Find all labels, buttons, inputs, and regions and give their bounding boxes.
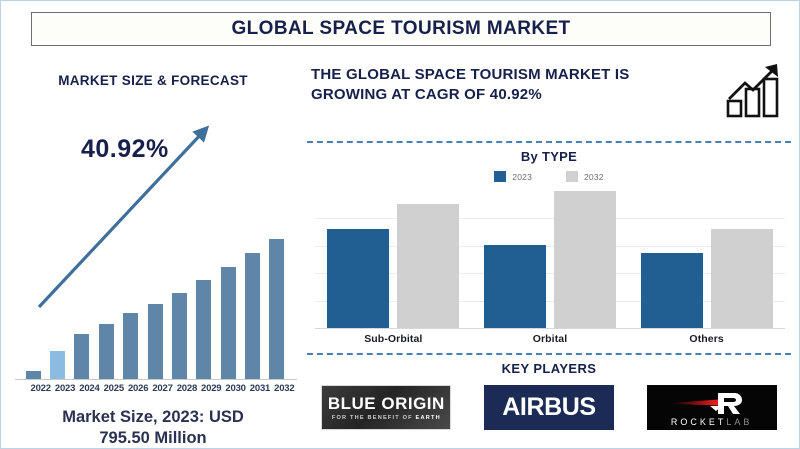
by-type-bar-others-2023 — [641, 253, 703, 328]
legend-item-2023[interactable]: 2023 — [494, 171, 532, 182]
market-size-caption: Market Size, 2023: USD 795.50 Million — [9, 407, 297, 448]
logo-blue-origin-tagline-emphasis: EARTH — [416, 415, 441, 421]
logo-rocket-lab-name: ROCKETLAB — [671, 417, 753, 427]
forecast-bar-chart — [21, 199, 289, 379]
page-title: GLOBAL SPACE TOURISM MARKET — [231, 18, 570, 40]
forecast-bar-rect — [269, 239, 284, 379]
separator-bottom — [307, 353, 791, 355]
forecast-bar-rect — [196, 280, 211, 379]
growth-statement-line2: GROWING AT CAGR OF 40.92% — [311, 86, 542, 103]
logo-airbus: AIRBUS — [484, 385, 614, 430]
by-type-bar-sub-orbital-2023 — [327, 229, 389, 328]
forecast-bar-rect — [74, 334, 89, 379]
logo-blue-origin-tagline-prefix: FOR THE BENEFIT OF — [332, 415, 416, 421]
growth-statement-line1: THE GLOBAL SPACE TOURISM MARKET IS — [311, 66, 629, 83]
forecast-year-labels: 2022202320242025202620272028202920302031… — [21, 383, 289, 399]
cagr-annotation: 40.92% — [81, 135, 169, 164]
by-type-bar-orbital-2032 — [554, 191, 616, 328]
logo-rocket-lab-name-secondary: LAB — [726, 417, 752, 427]
market-size-caption-line1: Market Size, 2023: USD — [62, 408, 244, 426]
by-type-group-sub-orbital — [327, 191, 459, 328]
by-type-bar-sub-orbital-2032 — [397, 204, 459, 328]
by-type-baseline — [315, 328, 785, 329]
by-type-title: By TYPE — [305, 149, 793, 164]
forecast-year-label: 2032 — [270, 383, 298, 394]
by-type-bar-others-2032 — [711, 229, 773, 328]
rocket-lab-mark-icon — [666, 391, 758, 416]
forecast-bar-rect — [221, 267, 236, 379]
forecast-bar-rect — [148, 304, 163, 379]
forecast-axis-line — [15, 379, 297, 380]
by-type-bar-orbital-2023 — [484, 245, 546, 328]
infographic-page: GLOBAL SPACE TOURISM MARKET MARKET SIZE … — [0, 0, 800, 449]
by-type-category-label: Sub-Orbital — [327, 333, 459, 345]
logo-blue-origin-tagline: FOR THE BENEFIT OF EARTH — [332, 415, 441, 421]
logo-airbus-name: AIRBUS — [502, 395, 595, 420]
page-title-box: GLOBAL SPACE TOURISM MARKET — [31, 12, 771, 46]
logo-blue-origin-name: BLUE ORIGIN — [328, 395, 445, 412]
logo-rocket-lab-name-primary: ROCKET — [671, 417, 727, 427]
separator-top — [307, 141, 791, 143]
by-type-legend: 20232032 — [305, 171, 793, 182]
market-size-forecast-panel: MARKET SIZE & FORECAST 40.92% 2022202320… — [9, 59, 297, 439]
by-type-category-label: Orbital — [484, 333, 616, 345]
by-type-group-orbital — [484, 191, 616, 328]
by-type-category-label: Others — [641, 333, 773, 345]
logo-rocket-lab: ROCKETLAB — [647, 385, 777, 430]
growth-chart-arrow-icon — [725, 61, 787, 119]
right-panel: THE GLOBAL SPACE TOURISM MARKET IS GROWI… — [305, 59, 793, 441]
growth-statement: THE GLOBAL SPACE TOURISM MARKET IS GROWI… — [311, 65, 691, 106]
legend-swatch-2032 — [566, 171, 578, 182]
logo-blue-origin: BLUE ORIGIN FOR THE BENEFIT OF EARTH — [321, 385, 451, 430]
market-size-caption-line2: 795.50 Million — [99, 429, 206, 447]
key-players-title: KEY PLAYERS — [305, 361, 793, 376]
forecast-bar-rect — [123, 313, 138, 379]
forecast-bar-rect — [99, 324, 114, 379]
market-size-forecast-heading: MARKET SIZE & FORECAST — [9, 73, 297, 88]
forecast-bar-rect — [26, 371, 41, 379]
forecast-bar-rect — [172, 293, 187, 379]
by-type-group-others — [641, 191, 773, 328]
key-players-logos: BLUE ORIGIN FOR THE BENEFIT OF EARTH AIR… — [305, 385, 793, 430]
legend-item-2032[interactable]: 2032 — [566, 171, 604, 182]
legend-swatch-2023 — [494, 171, 506, 182]
by-type-bar-chart — [315, 191, 785, 329]
legend-label-2032: 2032 — [584, 172, 604, 182]
forecast-bar-rect — [50, 351, 65, 379]
forecast-bar-rect — [245, 253, 260, 379]
legend-label-2023: 2023 — [512, 172, 532, 182]
by-type-category-labels: Sub-OrbitalOrbitalOthers — [315, 333, 785, 349]
